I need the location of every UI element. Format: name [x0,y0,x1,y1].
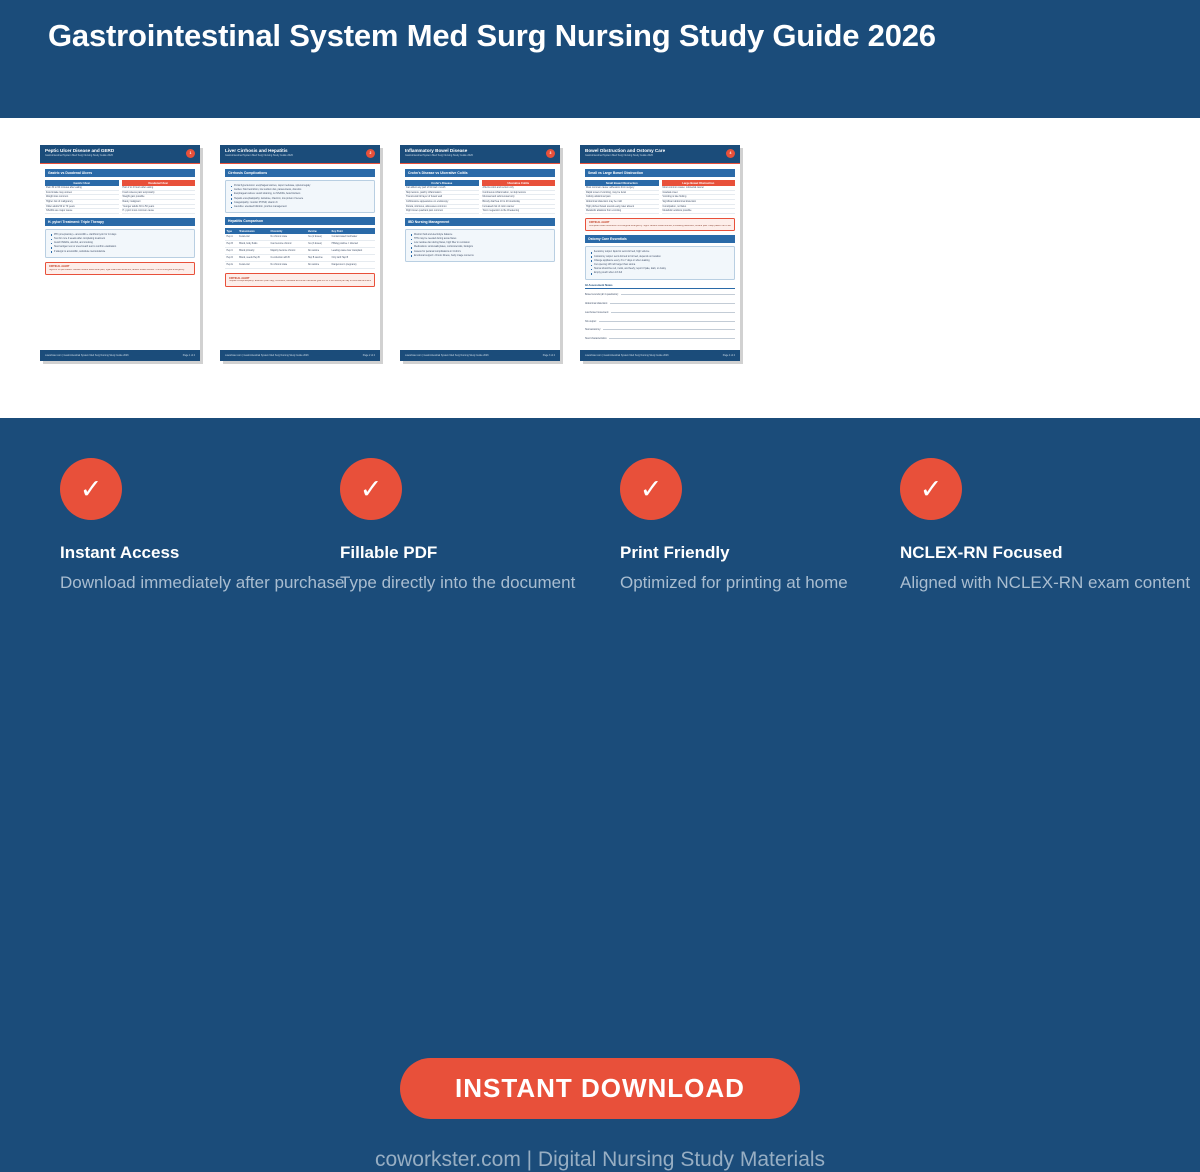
form-input-line[interactable] [599,318,735,322]
list-item: H. pylori most common cause [122,209,196,214]
bullet-item: Empty pouch when 1/3 full [590,271,730,275]
alert-text: Signs of GI perforation: sudden severe a… [49,269,191,272]
form-row[interactable]: Last bowel movement: [585,309,735,315]
form-input-line[interactable] [621,291,736,295]
bullet-item: If allergic to amoxicillin, substitute m… [50,250,190,254]
list-item: Metabolic alkalosis from vomiting [585,209,659,214]
section-bar: Gastric vs Duodenal Ulcers [45,169,195,177]
bullet-panel: Portal hypertension: esophageal varices,… [225,180,375,213]
cell: HBsAg positive = infected [330,241,375,248]
feature-description: Download immediately after purchase [60,573,340,593]
cell: Fecal-oral [238,262,269,269]
form-input-line[interactable] [603,326,735,330]
feature-title: Instant Access [60,543,340,563]
section-bar: Crohn's Disease vs Ulcerative Colitis [405,169,555,177]
thumb-header: Peptic Ulcer Disease and GERD Gastrointe… [40,145,200,164]
footer-left-text: coworkster.com | Gastrointestinal System… [405,354,489,357]
cell: Only with Hep B [330,255,375,262]
form-section-header: GI Assessment Notes [585,284,735,289]
form-input-line[interactable] [610,300,735,304]
form-row[interactable]: Stoma/ostomy: [585,326,735,332]
section-bar: IBD Nursing Management [405,218,555,226]
critical-alert-box: CRITICAL ALERT Signs of GI perforation: … [45,262,195,276]
thumb-footer: coworkster.com | Gastrointestinal System… [220,350,380,361]
site-footer-text: coworkster.com | Digital Nursing Study M… [0,1148,1200,1172]
form-label: Abdominal distention: [585,302,608,306]
thumb-body: Cirrhosis Complications Portal hypertens… [220,164,380,287]
feature-print-friendly: ✓ Print Friendly Optimized for printing … [620,458,900,593]
instant-download-button[interactable]: INSTANT DOWNLOAD [400,1058,800,1119]
footer-left-text: coworkster.com | Gastrointestinal System… [225,354,309,357]
thumb-header: Inflammatory Bowel Disease Gastrointesti… [400,145,560,164]
page-title: Gastrointestinal System Med Surg Nursing… [48,18,936,54]
features-section: ✓ Instant Access Download immediately af… [0,418,1200,900]
comparison-columns: Crohn's Disease Can affect any part of G… [405,180,555,214]
form-label: NG output: [585,320,597,324]
feature-instant-access: ✓ Instant Access Download immediately af… [60,458,340,593]
section-bar: Hepatitis Comparison [225,217,375,225]
cell: Majority become chronic [269,248,306,255]
cell: Dangerous in pregnancy [330,262,375,269]
alert-text: Complete bowel obstruction is a surgical… [589,225,731,228]
cell: Hep C [225,248,238,255]
comparison-column-left: Gastric Ulcer Pain 30 to 60 minutes afte… [45,180,119,214]
bullet-item: Jaundice: elevated bilirubin, pruritus m… [230,205,370,209]
footer-page-number: Page 2 of 4 [363,354,375,357]
cell: Co-infection with B [269,255,306,262]
cell: Can become chronic [269,241,306,248]
form-row[interactable]: Stool characteristics: [585,335,735,341]
cell: No vaccine [306,248,330,255]
cell: Hep B vaccine [306,255,330,262]
footer-left-text: coworkster.com | Gastrointestinal System… [585,354,669,357]
feature-description: Type directly into the document [340,573,620,593]
form-row[interactable]: Bowel sounds (all 4 quadrants): [585,291,735,297]
thumb-header: Bowel Obstruction and Ostomy Care Gastro… [580,145,740,164]
page-number-badge: 3 [546,149,555,158]
feature-description: Optimized for printing at home [620,573,900,593]
thumb-footer: coworkster.com | Gastrointestinal System… [580,350,740,361]
comparison-columns: Gastric Ulcer Pain 30 to 60 minutes afte… [45,180,195,214]
page-thumbnail-3[interactable]: Inflammatory Bowel Disease Gastrointesti… [400,145,560,361]
check-icon: ✓ [620,458,682,520]
cell: Leading cause liver transplant [330,248,375,255]
page-thumbnail-row: Peptic Ulcer Disease and GERD Gastrointe… [40,145,740,361]
footer-page-number: Page 1 of 4 [183,354,195,357]
critical-alert-box: CRITICAL ALERT Hepatic encephalopathy: a… [225,273,375,287]
list-item: Toxic megacolon is life threatening [482,209,556,214]
thumb-body: Crohn's Disease vs Ulcerative Colitis Cr… [400,164,560,262]
thumb-subtitle: Gastrointestinal System Med Surg Nursing… [225,154,375,158]
list-item: Metabolic acidosis possible [662,209,736,214]
section-bar: H. pylori Treatment: Triple Therapy [45,218,195,226]
form-label: Bowel sounds (all 4 quadrants): [585,293,619,297]
thumb-footer: coworkster.com | Gastrointestinal System… [400,350,560,361]
form-row[interactable]: NG output: [585,318,735,324]
page-header: Gastrointestinal System Med Surg Nursing… [0,0,1200,118]
cell: Hep E [225,262,238,269]
section-bar: Small vs Large Bowel Obstruction [585,169,735,177]
page-number-badge: 4 [726,149,735,158]
comparison-column-right: Large Bowel Obstruction Most common caus… [662,180,736,214]
form-label: Stool characteristics: [585,337,607,341]
table-row: Hep D Blood, needs Hep B Co-infection wi… [225,255,375,262]
bullet-panel: PPI (omeprazole) + amoxicillin + clarith… [45,229,195,258]
bullet-panel: Monitor fluid and electrolyte balance TP… [405,229,555,262]
cell: No vaccine [306,262,330,269]
feature-nclex-focused: ✓ NCLEX-RN Focused Aligned with NCLEX-RN… [900,458,1180,593]
cell: Yes (3 doses) [306,241,330,248]
comparison-column-left: Crohn's Disease Can affect any part of G… [405,180,479,214]
feature-grid: ✓ Instant Access Download immediately af… [60,458,1180,593]
thumb-header: Liver Cirrhosis and Hepatitis Gastrointe… [220,145,380,164]
thumb-subtitle: Gastrointestinal System Med Surg Nursing… [585,154,735,158]
thumb-footer: coworkster.com | Gastrointestinal System… [40,350,200,361]
feature-title: Fillable PDF [340,543,620,563]
thumb-body: Gastric vs Duodenal Ulcers Gastric Ulcer… [40,164,200,275]
section-bar: Ostomy Care Essentials [585,235,735,243]
hepatitis-comparison-table: Type Transmission Chronicity Vaccine Key… [225,228,375,269]
form-label: Stoma/ostomy: [585,328,601,332]
table-row: Hep C Blood primarily Majority become ch… [225,248,375,255]
page-thumbnail-1[interactable]: Peptic Ulcer Disease and GERD Gastrointe… [40,145,200,361]
footer-left-text: coworkster.com | Gastrointestinal System… [45,354,129,357]
page-thumbnail-2[interactable]: Liver Cirrhosis and Hepatitis Gastrointe… [220,145,380,361]
feature-description: Aligned with NCLEX-RN exam content [900,573,1180,593]
comparison-column-right: Duodenal Ulcer Pain 2 to 4 hours after e… [122,180,196,214]
table-row: Hep B Blood, body fluids Can become chro… [225,241,375,248]
check-icon: ✓ [900,458,962,520]
critical-alert-box: CRITICAL ALERT Complete bowel obstructio… [585,218,735,232]
footer-page-number: Page 4 of 4 [723,354,735,357]
alert-text: Hepatic encephalopathy: asterixis (liver… [229,280,371,283]
cell: Hep B [225,241,238,248]
thumb-body: Small vs Large Bowel Obstruction Small B… [580,164,740,341]
cell: No chronic state [269,262,306,269]
cell: Blood, body fluids [238,241,269,248]
form-label: Last bowel movement: [585,311,609,315]
feature-title: NCLEX-RN Focused [900,543,1180,563]
bullet-item: Emotional support: chronic illness, body… [410,254,550,258]
page-number-badge: 1 [186,149,195,158]
cell: Hep D [225,255,238,262]
feature-fillable-pdf: ✓ Fillable PDF Type directly into the do… [340,458,620,593]
table-row: Hep E Fecal-oral No chronic state No vac… [225,262,375,269]
check-icon: ✓ [60,458,122,520]
footer-page-number: Page 3 of 4 [543,354,555,357]
thumb-subtitle: Gastrointestinal System Med Surg Nursing… [45,154,195,158]
comparison-column-right: Ulcerative Colitis Affects colon and rec… [482,180,556,214]
thumb-subtitle: Gastrointestinal System Med Surg Nursing… [405,154,555,158]
page-thumbnail-4[interactable]: Bowel Obstruction and Ostomy Care Gastro… [580,145,740,361]
list-item: NSAIDs are major cause [45,209,119,214]
form-row[interactable]: Abdominal distention: [585,300,735,306]
bullet-panel: Ileostomy output: liquid to semi-formed,… [585,246,735,279]
form-input-line[interactable] [609,335,735,339]
list-item: Right lower quadrant pain common [405,209,479,214]
form-input-line[interactable] [611,309,735,313]
page-number-badge: 2 [366,149,375,158]
comparison-columns: Small Bowel Obstruction Most common caus… [585,180,735,214]
document-preview-band: Peptic Ulcer Disease and GERD Gastrointe… [0,118,1200,418]
feature-title: Print Friendly [620,543,900,563]
cell: Blood primarily [238,248,269,255]
cell: Blood, needs Hep B [238,255,269,262]
check-icon: ✓ [340,458,402,520]
comparison-column-left: Small Bowel Obstruction Most common caus… [585,180,659,214]
section-bar: Cirrhosis Complications [225,169,375,177]
